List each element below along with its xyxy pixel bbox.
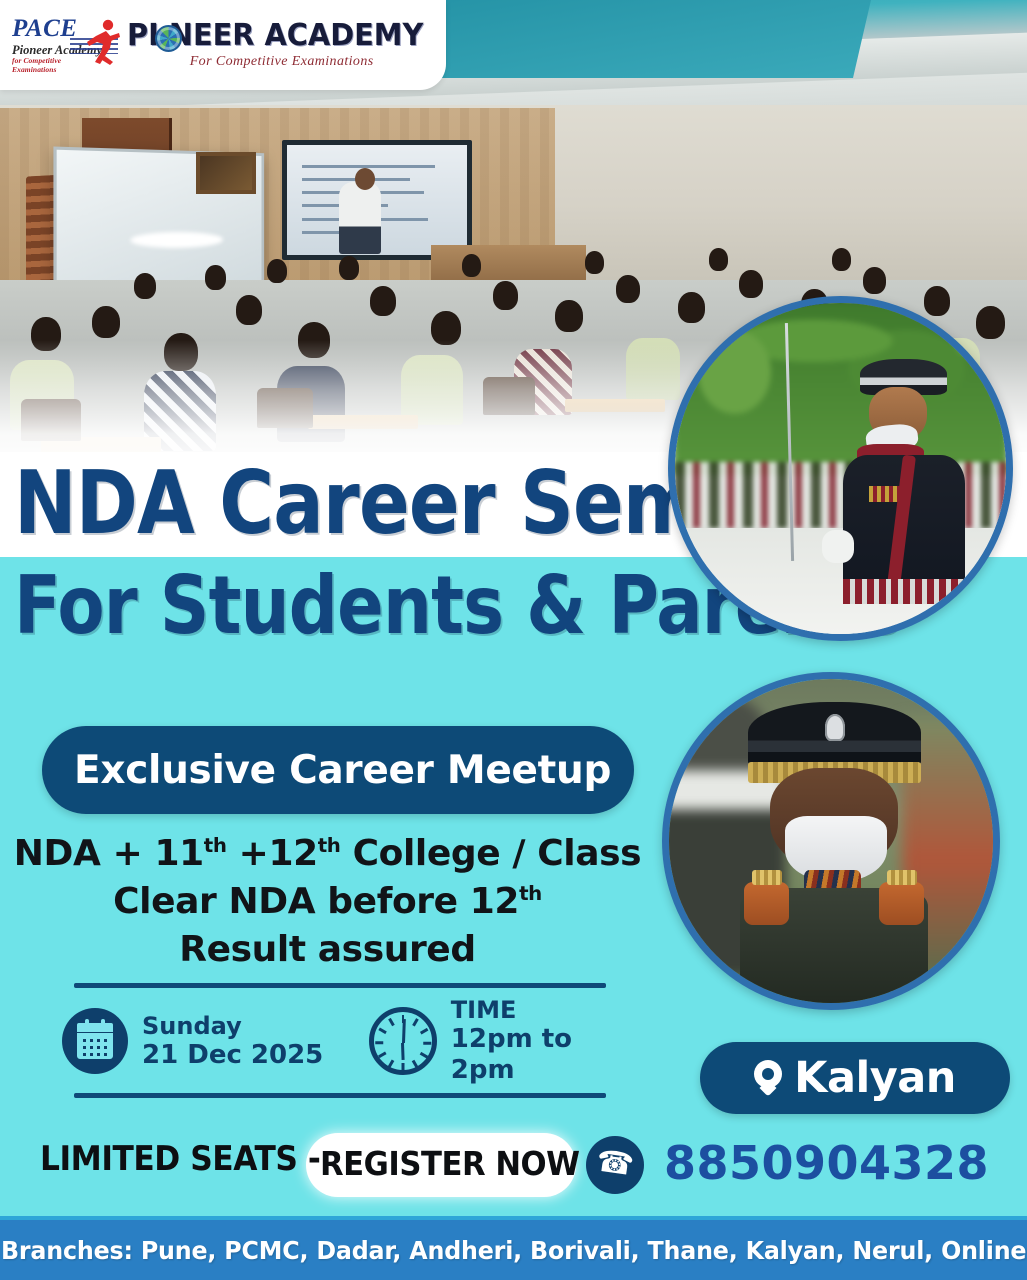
- cadet-belt: [843, 579, 965, 604]
- branches-footer: Branches: Pune, PCMC, Dadar, Andheri, Bo…: [0, 1220, 1027, 1280]
- date-value: 21 Dec 2025: [142, 1040, 323, 1071]
- officer-rank-pips-right: [887, 870, 917, 885]
- time-value: 12pm to 2pm: [451, 1024, 642, 1085]
- limited-seats-label: LIMITED SEATS -: [40, 1139, 320, 1179]
- date-day: Sunday: [142, 1012, 323, 1040]
- date-block: Sunday 21 Dec 2025: [62, 1008, 369, 1074]
- clock-hour-hand: [401, 1043, 405, 1060]
- phone-icon[interactable]: [586, 1136, 644, 1194]
- course-line-1-pre: NDA + 11: [14, 833, 204, 874]
- pioneer-tagline: For Competitive Examinations: [127, 54, 436, 70]
- officer-rank-pips-left: [752, 870, 782, 885]
- time-block: TIME 12pm to 2pm: [369, 996, 642, 1086]
- officer-figure: [740, 702, 928, 1003]
- cadet-figure: [834, 359, 980, 634]
- phone-number[interactable]: 8850904328: [664, 1136, 989, 1190]
- ceiling-teal-panel: [381, 0, 871, 78]
- clock-icon: [369, 1007, 437, 1075]
- brand-logo-bar: PACE Pioneer Academy for Competitive Exa…: [0, 0, 446, 90]
- cap-badge-icon: [825, 714, 846, 741]
- cadet-glove: [822, 530, 854, 563]
- schedule-row: Sunday 21 Dec 2025 T: [62, 997, 642, 1085]
- clock-minute-hand: [402, 1019, 405, 1043]
- ashoka-chakra-icon: [155, 25, 182, 52]
- cadet-sword-photo: [668, 296, 1013, 641]
- map-pin-icon: [754, 1060, 782, 1096]
- course-line-2-pre: Clear NDA before 12: [113, 881, 519, 922]
- divider-bottom: [74, 1093, 606, 1098]
- course-line-3: Result assured: [0, 926, 655, 974]
- course-line-1-mid: +12: [227, 833, 318, 874]
- officer-portrait-photo: [662, 672, 1000, 1010]
- time-text: TIME 12pm to 2pm: [451, 996, 642, 1086]
- date-text: Sunday 21 Dec 2025: [142, 1012, 323, 1071]
- poster-root: NDA Career Seminar For Students & Parent…: [0, 0, 1027, 1280]
- course-line-2-sup: th: [519, 882, 542, 905]
- pioneer-logo: PI NEER ACADEMY For Competitive Examinat…: [111, 21, 436, 70]
- exclusive-career-meetup-banner: Exclusive Career Meetup: [42, 726, 634, 814]
- divider-top: [74, 983, 606, 988]
- register-now-label[interactable]: REGISTER NOW: [320, 1144, 580, 1183]
- course-line-1-sup-2: th: [318, 834, 341, 857]
- course-line-2: Clear NDA before 12th: [0, 878, 655, 926]
- meetup-label: Exclusive Career Meetup: [74, 748, 611, 793]
- wall-frame-1: [196, 152, 256, 194]
- cadet-medal-ribbons: [869, 486, 901, 502]
- location-badge: Kalyan: [700, 1042, 1010, 1114]
- branches-text: Branches: Pune, PCMC, Dadar, Andheri, Bo…: [1, 1236, 1026, 1265]
- location-city: Kalyan: [794, 1053, 956, 1103]
- time-label: TIME: [451, 996, 642, 1024]
- course-line-1-post: College / Class: [341, 833, 642, 874]
- course-line-1-sup-1: th: [204, 834, 227, 857]
- course-details: NDA + 11th +12th College / Class Clear N…: [0, 830, 655, 975]
- pace-logo: PACE Pioneer Academy for Competitive Exa…: [12, 16, 105, 74]
- officer-epaulette-right: [879, 882, 924, 924]
- calendar-icon: [62, 1008, 128, 1074]
- officer-epaulette-left: [744, 882, 789, 924]
- course-line-1: NDA + 11th +12th College / Class: [0, 830, 655, 878]
